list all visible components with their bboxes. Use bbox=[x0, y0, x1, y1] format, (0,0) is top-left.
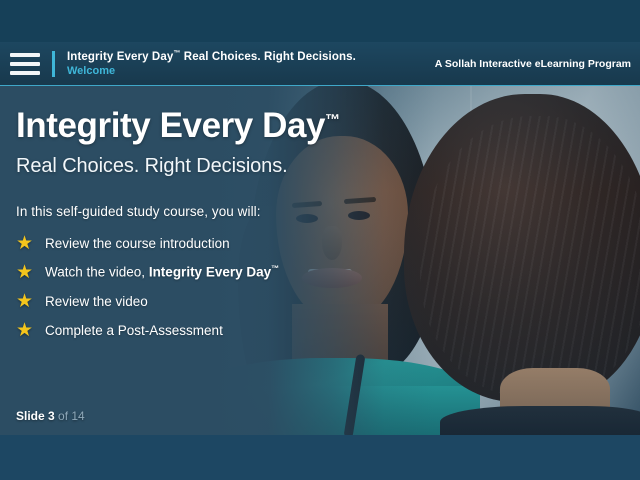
slide-counter: Slide 3 of 14 bbox=[16, 409, 85, 423]
slide-counter-current: Slide 3 bbox=[16, 409, 55, 423]
objective-text: Review the course introduction bbox=[45, 236, 230, 251]
objective-text-lead: Complete a Post-Assessment bbox=[45, 323, 223, 338]
header-divider bbox=[52, 51, 55, 77]
hamburger-bar-3 bbox=[10, 71, 40, 75]
hamburger-menu-icon[interactable] bbox=[10, 53, 40, 75]
header-course-title: Integrity Every Day™ Real Choices. Right… bbox=[67, 50, 356, 64]
objective-text-lead: Review the video bbox=[45, 294, 148, 309]
objective-text: Watch the video, Integrity Every Day™ bbox=[45, 264, 279, 280]
elearning-slide-viewer: Integrity Every Day™ Real Choices. Right… bbox=[0, 0, 640, 480]
objective-text-emphasis: Integrity Every Day bbox=[149, 265, 271, 280]
star-icon: ★ bbox=[16, 293, 33, 310]
window-top-spacer bbox=[0, 0, 640, 42]
header-trademark-icon: ™ bbox=[173, 50, 180, 57]
objective-text-lead: Review the course introduction bbox=[45, 236, 230, 251]
header-course-title-tail: Real Choices. Right Decisions. bbox=[181, 50, 356, 62]
slide-title-trademark-icon: ™ bbox=[325, 111, 340, 128]
slide-lead-text: In this self-guided study course, you wi… bbox=[16, 204, 406, 219]
objective-text-lead: Watch the video, bbox=[45, 265, 149, 280]
objective-text: Complete a Post-Assessment bbox=[45, 323, 223, 338]
list-item: ★ Review the video bbox=[16, 291, 406, 311]
slide-title-text: Integrity Every Day bbox=[16, 106, 325, 145]
list-item: ★ Review the course introduction bbox=[16, 233, 406, 253]
objective-trademark-icon: ™ bbox=[271, 264, 279, 273]
hamburger-bar-1 bbox=[10, 53, 40, 57]
slide-title: Integrity Every Day™ bbox=[16, 108, 406, 143]
star-icon: ★ bbox=[16, 235, 33, 252]
star-icon: ★ bbox=[16, 322, 33, 339]
slide-counter-total: of 14 bbox=[55, 409, 85, 423]
objectives-list: ★ Review the course introduction ★ Watch… bbox=[16, 233, 406, 340]
star-icon: ★ bbox=[16, 264, 33, 281]
course-header-bar: Integrity Every Day™ Real Choices. Right… bbox=[0, 42, 640, 86]
header-section-label: Welcome bbox=[67, 65, 356, 78]
slide-copy-block: Integrity Every Day™ Real Choices. Right… bbox=[16, 86, 406, 349]
list-item: ★ Watch the video, Integrity Every Day™ bbox=[16, 262, 406, 282]
header-course-title-main: Integrity Every Day bbox=[67, 50, 173, 62]
objective-text: Review the video bbox=[45, 294, 148, 309]
slide-subtitle: Real Choices. Right Decisions. bbox=[16, 155, 406, 178]
player-bottom-bar bbox=[0, 435, 640, 480]
hamburger-bar-2 bbox=[10, 62, 40, 66]
header-program-credit: A Sollah Interactive eLearning Program bbox=[435, 58, 631, 70]
slide-canvas: Integrity Every Day™ Real Choices. Right… bbox=[0, 86, 640, 435]
list-item: ★ Complete a Post-Assessment bbox=[16, 320, 406, 340]
header-title-group: Integrity Every Day™ Real Choices. Right… bbox=[67, 50, 356, 78]
